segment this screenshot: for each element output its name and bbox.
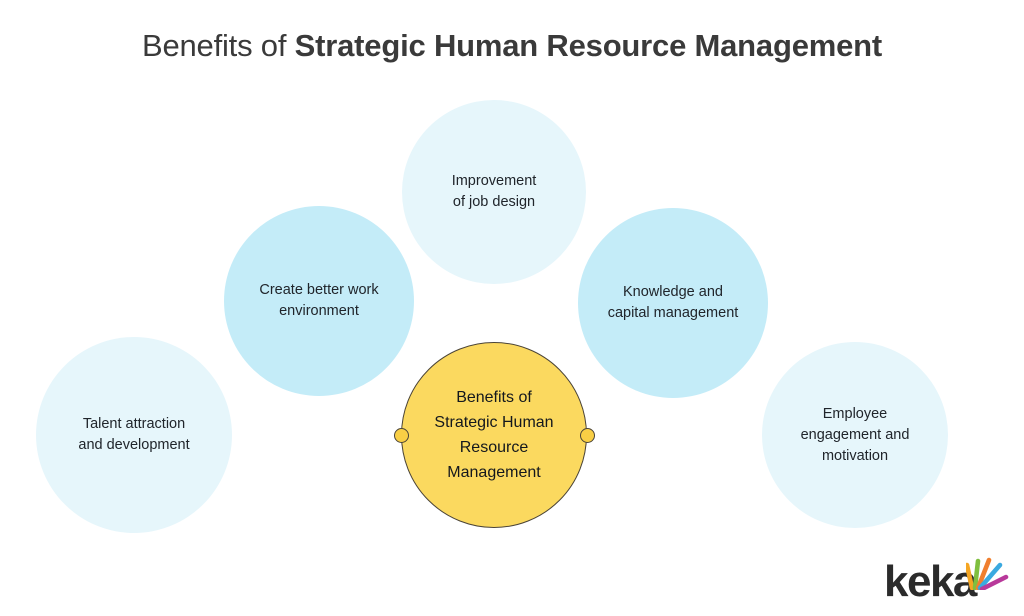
benefit-node-label: Improvement of job design xyxy=(438,171,551,213)
benefit-node-work-environment[interactable]: Create better work environment xyxy=(224,206,414,396)
keka-logo-fan-icon xyxy=(966,548,1012,590)
benefit-node-label: Create better work environment xyxy=(245,280,392,322)
diagram-center-hub[interactable]: Benefits of Strategic Human Resource Man… xyxy=(401,342,587,528)
hub-connector-dot-left xyxy=(394,428,409,443)
benefit-node-label: Knowledge and capital management xyxy=(594,282,753,324)
benefits-radial-diagram: Talent attraction and development Create… xyxy=(0,0,1024,616)
benefit-node-label: Talent attraction and development xyxy=(64,414,203,456)
benefit-node-employee-engagement[interactable]: Employee engagement and motivation xyxy=(762,342,948,528)
diagram-center-label: Benefits of Strategic Human Resource Man… xyxy=(424,385,563,485)
benefit-node-label: Employee engagement and motivation xyxy=(787,404,924,467)
hub-connector-dot-right xyxy=(580,428,595,443)
benefit-node-talent-attraction[interactable]: Talent attraction and development xyxy=(36,337,232,533)
keka-logo: keka xyxy=(884,548,1012,604)
benefit-node-knowledge-capital[interactable]: Knowledge and capital management xyxy=(578,208,768,398)
benefit-node-job-design[interactable]: Improvement of job design xyxy=(402,100,586,284)
keka-wordmark: keka xyxy=(884,560,976,604)
